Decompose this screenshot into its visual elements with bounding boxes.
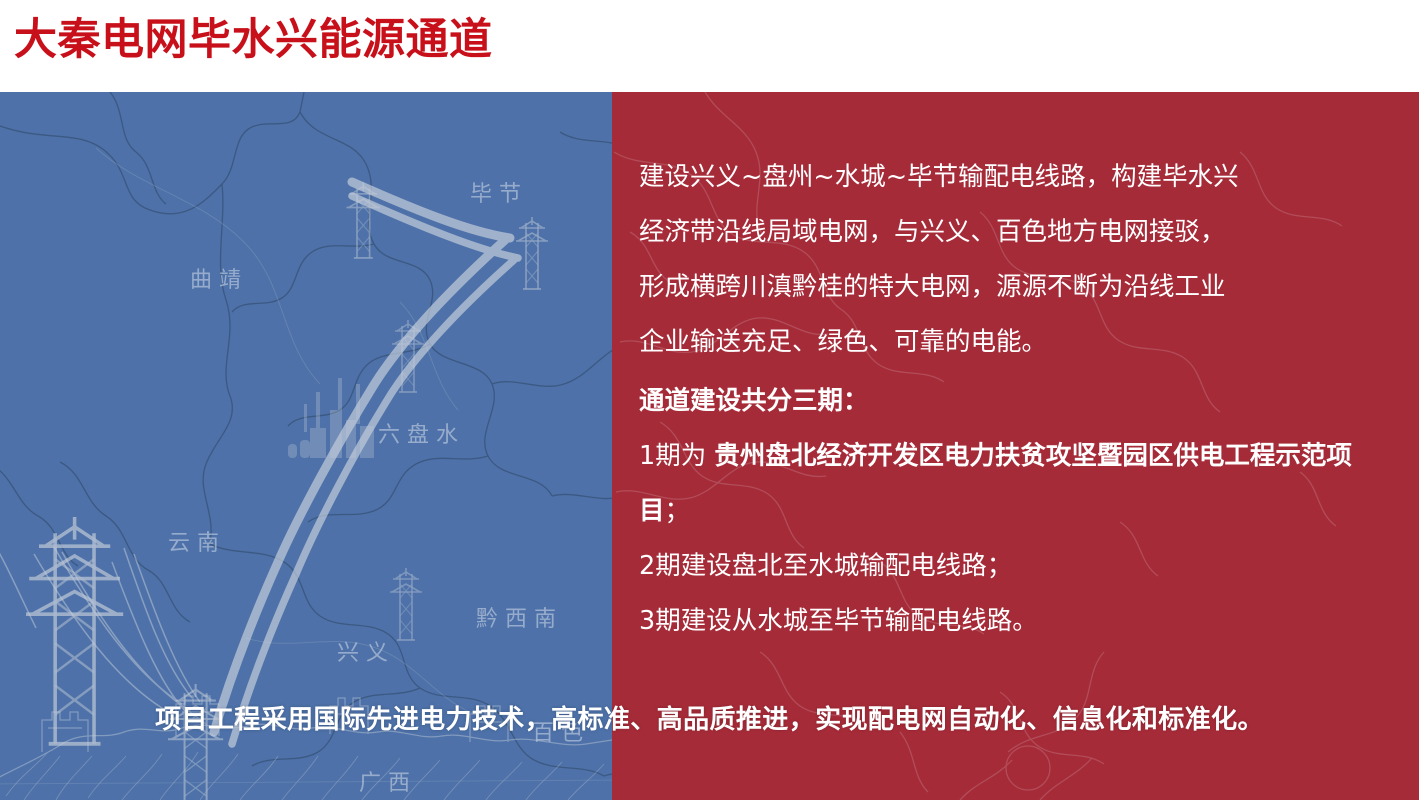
text-panel: 建设兴义~盘州~水城~毕节输配电线路，构建毕水兴 经济带沿线局域电网，与兴义、百… <box>612 92 1419 800</box>
phase-1-item: 1期为 贵州盘北经济开发区电力扶贫攻坚暨园区供电工程示范项目； <box>639 429 1379 539</box>
phase-1-project-name: 贵州盘北经济开发区电力扶贫攻坚暨园区供电工程示范项目 <box>639 441 1352 526</box>
description-text-block: 建设兴义~盘州~水城~毕节输配电线路，构建毕水兴 经济带沿线局域电网，与兴义、百… <box>639 150 1379 649</box>
power-line-wires <box>0 530 200 714</box>
phase-2-item: 2期建设盘北至水城输配电线路； <box>639 539 1379 594</box>
phases-heading: 通道建设共分三期： <box>639 374 1379 429</box>
phase-3-item: 3期建设从水城至毕节输配电线路。 <box>639 594 1379 649</box>
map-guide-line <box>0 780 612 784</box>
map-graphic-left <box>0 92 612 800</box>
slide-header: 大秦电网毕水兴能源通道 <box>0 0 1419 92</box>
paragraph-line: 企业输送充足、绿色、可靠的电能。 <box>639 315 1379 370</box>
map-boundary-lines <box>0 92 612 777</box>
paragraph-line: 形成横跨川滇黔桂的特大电网，源源不断为沿线工业 <box>639 260 1379 315</box>
power-tower-icon <box>516 217 548 289</box>
phase-1-suffix: ； <box>665 496 691 526</box>
power-line-corridor <box>214 182 518 744</box>
presentation-slide: 大秦电网毕水兴能源通道 <box>0 0 1419 800</box>
map-panel: 毕节曲靖六盘水云南兴义黔西南百色广西 <box>0 92 612 800</box>
slide-body: 毕节曲靖六盘水云南兴义黔西南百色广西 <box>0 92 1419 800</box>
paragraph-line: 建设兴义~盘州~水城~毕节输配电线路，构建毕水兴 <box>639 150 1379 205</box>
map-vector-left <box>0 92 612 800</box>
phase-1-prefix: 1期为 <box>639 441 714 471</box>
page-title: 大秦电网毕水兴能源通道 <box>14 17 493 64</box>
paragraph-line: 经济带沿线局域电网，与兴义、百色地方电网接驳， <box>639 205 1379 260</box>
power-tower-icon <box>390 568 422 640</box>
